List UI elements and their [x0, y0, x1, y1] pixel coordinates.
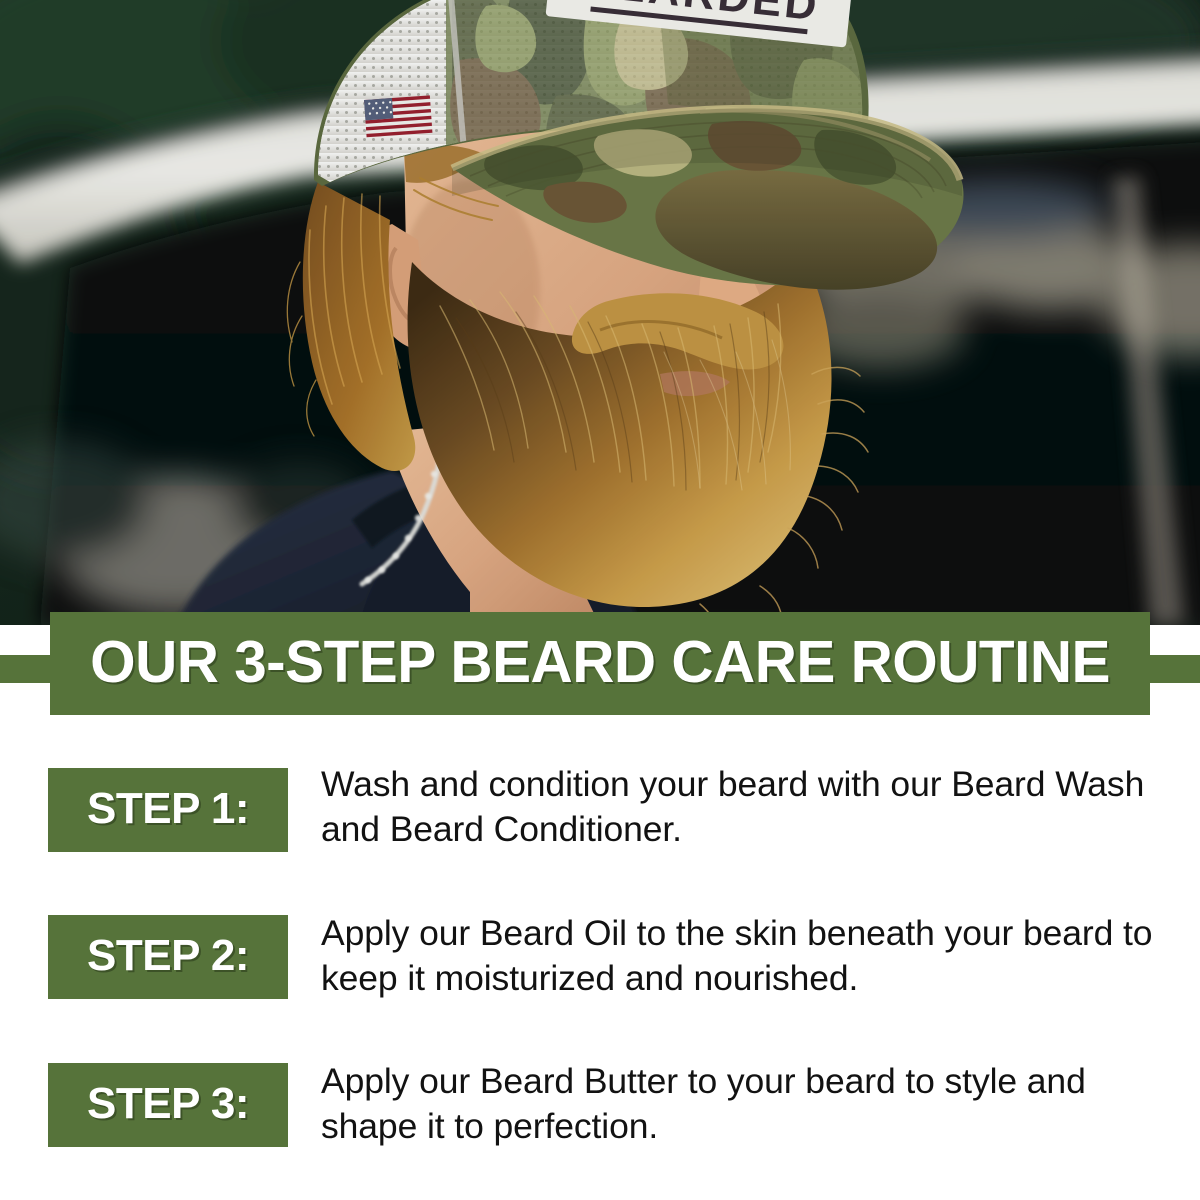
- banner-tab-left: [0, 655, 52, 683]
- step-badge-label: STEP 1:: [87, 787, 249, 833]
- step-badge-label: STEP 3:: [87, 1082, 249, 1128]
- step-badge-3: STEP 3:: [48, 1063, 288, 1147]
- step-row: STEP 1: Wash and condition your beard wi…: [48, 768, 1168, 852]
- step-row: STEP 3: Apply our Beard Butter to your b…: [48, 1063, 1168, 1149]
- step-description: Apply our Beard Butter to your beard to …: [288, 1059, 1168, 1149]
- hero-photo-illustration: BEARDED: [0, 0, 1200, 625]
- hero-photo: BEARDED: [0, 0, 1200, 625]
- step-row: STEP 2: Apply our Beard Oil to the skin …: [48, 915, 1168, 1001]
- step-badge-label: STEP 2:: [87, 934, 249, 980]
- step-description: Wash and condition your beard with our B…: [288, 762, 1168, 852]
- banner-tab-right: [1148, 655, 1200, 683]
- beard-care-routine-infographic: BEARDED: [0, 0, 1200, 1200]
- headline-banner: OUR 3-STEP BEARD CARE ROUTINE: [0, 612, 1200, 717]
- step-badge-1: STEP 1:: [48, 768, 288, 852]
- step-description: Apply our Beard Oil to the skin beneath …: [288, 911, 1168, 1001]
- banner-main: OUR 3-STEP BEARD CARE ROUTINE: [50, 612, 1150, 715]
- page-title: OUR 3-STEP BEARD CARE ROUTINE: [90, 633, 1110, 695]
- step-badge-2: STEP 2:: [48, 915, 288, 999]
- steps-list: STEP 1: Wash and condition your beard wi…: [0, 717, 1200, 1200]
